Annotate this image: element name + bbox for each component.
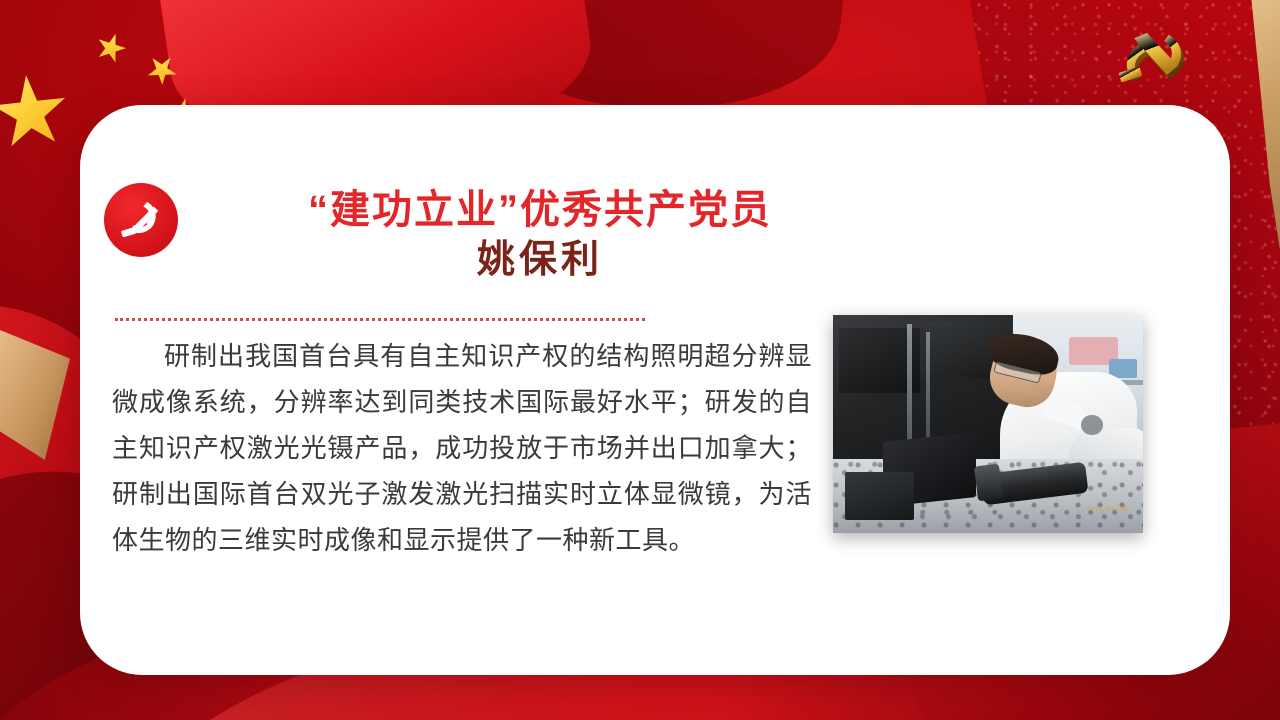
- cpc-emblem-icon: [1110, 22, 1202, 104]
- photo-frame: 2011/07/08: [833, 315, 1143, 533]
- party-badge: [104, 183, 178, 257]
- photo-equipment-box: [926, 322, 994, 379]
- title-block: “建功立业”优秀共产党员 姚保利: [200, 187, 880, 284]
- person-name: 姚保利: [200, 238, 880, 284]
- content-card: “建功立业”优秀共产党员 姚保利 研制出我国首台具有自主知识产权的结构照明超分辨…: [80, 105, 1230, 675]
- dotted-divider: [115, 318, 645, 321]
- scientist-lab-photo: 2011/07/08: [833, 315, 1143, 533]
- body-paragraph: 研制出我国首台具有自主知识产权的结构照明超分辨显微成像系统，分辨率达到同类技术国…: [112, 333, 812, 563]
- photo-optical-rail-2: [926, 332, 930, 441]
- hammer-sickle-icon: [117, 196, 165, 244]
- photo-labcoat-logo: [1081, 415, 1103, 435]
- photo-lens-mount: [974, 464, 1003, 502]
- page-title: “建功立业”优秀共产党员: [200, 187, 880, 234]
- photo-optics-assembly-2: [845, 472, 913, 520]
- photo-optical-rail-1: [907, 324, 912, 450]
- photo-date-stamp: 2011/07/08: [1086, 506, 1127, 513]
